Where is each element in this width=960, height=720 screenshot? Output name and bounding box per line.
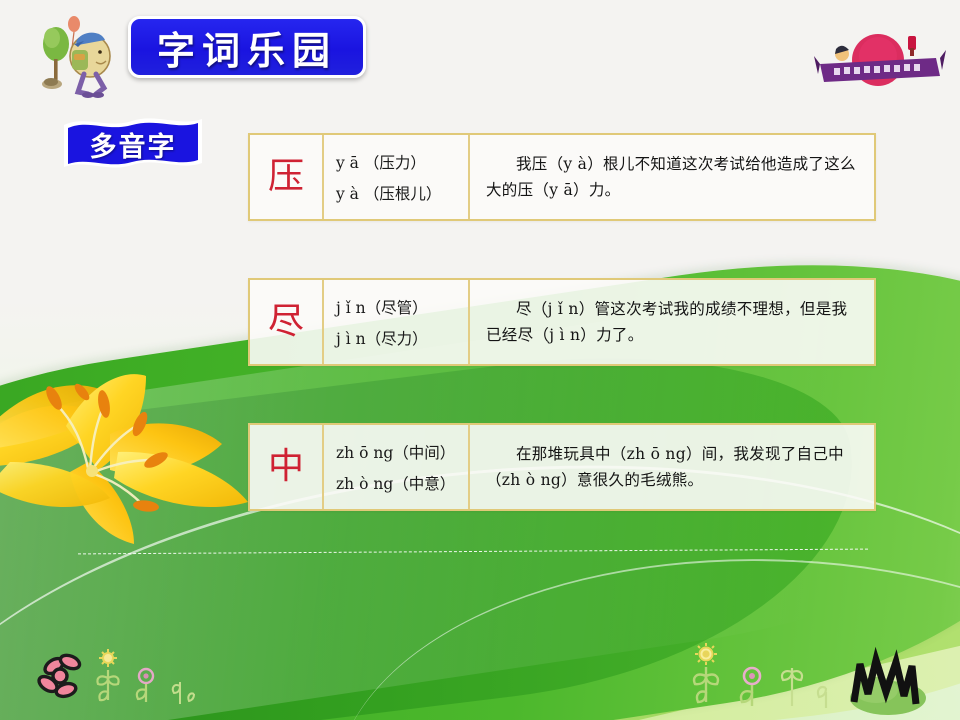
row-sentence-cell: 在那堆玩具中（zh ō ng）间，我发现了自己中（zh ò ng）意很久的毛绒熊… <box>470 425 874 509</box>
row-sentence-cell: 我压（y à）根儿不知道这次考试给他造成了这么大的压（y ā）力。 <box>470 135 874 219</box>
row-sentence: 我压（y à）根儿不知道这次考试给他造成了这么大的压（y ā）力。 <box>486 151 862 203</box>
row-sentence-cell: 尽（j ǐ n）管这次考试我的成绩不理想，但是我已经尽（j ì n）力了。 <box>470 280 874 364</box>
row-pinyin-1: zh ō ng（中间） <box>336 441 468 463</box>
row-character: 压 <box>268 159 304 195</box>
row-character: 尽 <box>268 304 304 340</box>
table-row: 压 y ā （压力） y à （压根儿） 我压（y à）根儿不知道这次考试给他造… <box>248 133 876 221</box>
row-pinyin-2: j ì n（尽力） <box>336 327 468 349</box>
dashed-line-icon <box>78 549 868 555</box>
row-sentence: 在那堆玩具中（zh ō ng）间，我发现了自己中（zh ò ng）意很久的毛绒熊… <box>486 441 862 493</box>
row-character-cell: 压 <box>250 135 324 219</box>
pink-flower-doodle-icon <box>34 648 204 714</box>
row-character-cell: 尽 <box>250 280 324 364</box>
section-banner-label: 多音字 <box>60 113 206 175</box>
row-sentence: 尽（j ǐ n）管这次考试我的成绩不理想，但是我已经尽（j ì n）力了。 <box>486 296 862 348</box>
ribbon-logo-icon <box>812 30 948 92</box>
table-row: 中 zh ō ng（中间） zh ò ng（中意） 在那堆玩具中（zh ō ng… <box>248 423 876 511</box>
page-title: 字词乐园 <box>157 20 337 75</box>
row-character-cell: 中 <box>250 425 324 509</box>
row-pinyin-cell: j ǐ n（尽管） j ì n（尽力） <box>324 280 470 364</box>
slide-canvas: 字词乐园 多音字 <box>0 0 960 720</box>
table-row: 尽 j ǐ n（尽管） j ì n（尽力） 尽（j ǐ n）管这次考试我的成绩不… <box>248 278 876 366</box>
slide-title-plate: 字词乐园 <box>128 16 366 78</box>
row-pinyin-1: y ā （压力） <box>336 151 468 173</box>
row-pinyin-2: zh ò ng（中意） <box>336 472 468 494</box>
hiker-mascot-icon <box>30 14 126 102</box>
row-pinyin-cell: zh ō ng（中间） zh ò ng（中意） <box>324 425 470 509</box>
row-pinyin-2: y à （压根儿） <box>336 182 468 204</box>
row-character: 中 <box>268 449 304 485</box>
row-pinyin-1: j ǐ n（尽管） <box>336 296 468 318</box>
row-pinyin-cell: y ā （压力） y à （压根儿） <box>324 135 470 219</box>
grass-bush-doodle-icon <box>680 640 930 716</box>
section-banner: 多音字 <box>60 113 206 175</box>
